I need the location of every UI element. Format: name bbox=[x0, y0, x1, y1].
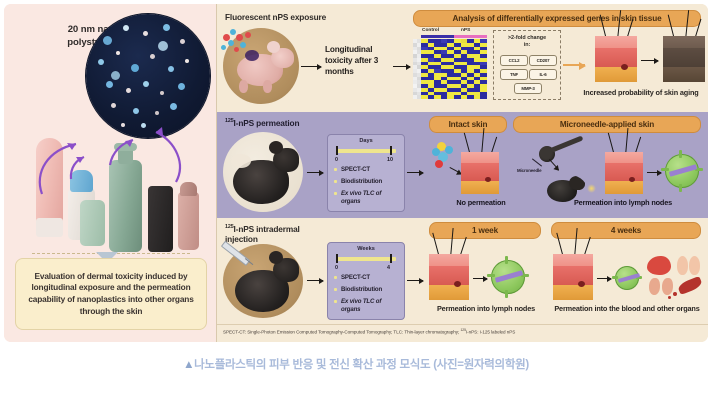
row2-skin-block-intact bbox=[461, 152, 499, 194]
gene-box-title-1: >2-fold change bbox=[494, 35, 560, 42]
heatmap-label-nps: nPS bbox=[461, 28, 470, 33]
row2-glow bbox=[587, 184, 596, 193]
row2-arrow-2 bbox=[407, 172, 423, 173]
microneedle-roller-handle bbox=[550, 135, 583, 152]
organ-kidney-right bbox=[662, 278, 673, 295]
row3-title-text: I-nPS intradermal injection bbox=[225, 224, 300, 244]
footnote-main: SPECT-CT: Single-Photon Emission Compute… bbox=[223, 330, 460, 335]
row2-title-superscript: 125 bbox=[225, 118, 234, 124]
row3-title: 125I-nPS intradermal injection bbox=[225, 224, 317, 244]
row3-arrow-1 bbox=[307, 280, 323, 281]
row1-arrow-2 bbox=[393, 66, 410, 67]
purple-arrow-from-green-bottle bbox=[106, 136, 140, 168]
scientific-figure: 20 nm nano polystyrene (nPS) bbox=[4, 4, 708, 342]
evaluation-callout-box: Evaluation of dermal toxicity induced by… bbox=[15, 258, 207, 330]
row2-pill-intact-skin: Intact skin bbox=[429, 116, 507, 133]
row3-skin-block-1week bbox=[429, 254, 469, 300]
tall-green-bottle bbox=[109, 160, 142, 252]
row2-caption-permeation: Permeation into lymph nodes bbox=[543, 198, 703, 207]
screenshot-root: 20 nm nano polystyrene (nPS) bbox=[0, 0, 712, 409]
nanoparticle-micrograph bbox=[86, 14, 210, 138]
skin-block-normal bbox=[595, 36, 637, 82]
row3-skin-block-4weeks bbox=[553, 254, 593, 300]
row1-arrow-3 bbox=[641, 60, 658, 61]
row3-timeline-unit: Weeks bbox=[328, 246, 404, 253]
row3-caption-lymph: Permeation into lymph nodes bbox=[423, 304, 549, 313]
row3-arrow-4 bbox=[597, 278, 611, 279]
row1-step-text: Longitudinal toxicity after 3 months bbox=[325, 44, 391, 77]
row3-title-superscript: 125 bbox=[225, 224, 234, 230]
row1-analysis-pill: Analysis of differentially expressed gen… bbox=[413, 10, 701, 27]
row3-timeline-start: 0 bbox=[335, 265, 338, 271]
row3-timeline-item-3: Ex vivo TLC of organs bbox=[341, 298, 399, 314]
gene-expression-heatmap: Control nPS bbox=[413, 28, 487, 100]
pink-tube-cap bbox=[36, 218, 63, 237]
row2-pill-microneedle-skin: Microneedle-applied skin bbox=[513, 116, 701, 133]
row2-arrow-3 bbox=[647, 172, 661, 173]
gene-pill-il6: IL-6 bbox=[529, 69, 557, 80]
row3-caption-blood-organs: Permeation into the blood and other orga… bbox=[547, 304, 707, 313]
row1-arrow-1 bbox=[301, 66, 321, 67]
row2-timeline-box: Days 0 10 SPECT-CT Biodistribution Ex vi… bbox=[327, 134, 405, 212]
row-intradermal-injection: 125I-nPS intradermal injection Weeks 0 bbox=[217, 218, 708, 324]
gene-box-title-2: in: bbox=[494, 42, 560, 49]
footnote-tail: I-nPS: I-125 labeled nPS bbox=[466, 330, 515, 335]
skin-block-aged bbox=[663, 36, 705, 82]
row3-timeline-item-1: SPECT-CT bbox=[341, 274, 370, 282]
row2-timeline-unit: Days bbox=[328, 138, 404, 145]
gene-pill-tnf: TNF bbox=[500, 69, 528, 80]
organ-spleen bbox=[677, 276, 703, 295]
row1-orange-arrow bbox=[563, 64, 585, 66]
abbreviation-footnote: SPECT-CT: Single-Photon Emission Compute… bbox=[223, 326, 705, 337]
row3-timeline-end: 4 bbox=[387, 265, 390, 271]
row2-timeline-item-2: Biodistribution bbox=[341, 178, 382, 186]
row2-timeline-item-1: SPECT-CT bbox=[341, 166, 370, 174]
gene-pill-ccl2: CCL2 bbox=[500, 55, 528, 66]
gene-pill-mmp3: MMP-3 bbox=[514, 83, 542, 94]
organ-liver bbox=[647, 256, 671, 275]
left-overview-panel: 20 nm nano polystyrene (nPS) bbox=[4, 4, 216, 342]
black-cosmetic-stick bbox=[148, 186, 173, 252]
row3-arrow-3 bbox=[473, 278, 487, 279]
lipstick-body bbox=[178, 192, 199, 250]
fluorescent-nps-cluster bbox=[221, 28, 255, 56]
row1-result-caption: Increased probability of skin aging bbox=[573, 88, 708, 97]
row2-caption-no-permeation: No permeation bbox=[431, 198, 531, 207]
row2-skin-block-microneedle bbox=[605, 152, 643, 194]
heatmap-label-control: Control bbox=[422, 28, 439, 33]
microneedle-label: Microneedle bbox=[517, 168, 542, 173]
row3-pill-1-week: 1 week bbox=[429, 222, 541, 239]
caption-triangle-icon: ▲ bbox=[183, 359, 194, 371]
row2-mouse-photo bbox=[223, 132, 303, 212]
row2-arrow-to-skin bbox=[450, 167, 462, 174]
purple-arrow-from-blue-bottle bbox=[66, 152, 92, 182]
row3-pill-4-weeks: 4 weeks bbox=[551, 222, 701, 239]
row2-timeline-start: 0 bbox=[335, 157, 338, 163]
row2-timeline-end: 10 bbox=[387, 157, 393, 163]
figure-caption: ▲나노플라스틱의 피부 반응 및 전신 확산 과정 모식도 (사진=원자력의학원… bbox=[0, 356, 712, 372]
row1-title: Fluorescent nPS exposure bbox=[225, 12, 326, 22]
row3-timeline-item-2: Biodistribution bbox=[341, 286, 382, 294]
organ-lung-right bbox=[689, 256, 700, 275]
row3-arrow-2 bbox=[407, 280, 423, 281]
row2-timeline-item-3: Ex vivo TLC of organs bbox=[341, 190, 399, 206]
radiolabeled-nps-glyph-left bbox=[431, 142, 457, 168]
row3-timeline-box: Weeks 0 4 SPECT-CT Biodistribution Ex vi… bbox=[327, 242, 405, 320]
evaluation-callout-text: Evaluation of dermal toxicity induced by… bbox=[16, 271, 206, 317]
caption-text: 나노플라스틱의 피부 반응 및 전신 확산 과정 모식도 (사진=원자력의학원) bbox=[194, 359, 529, 371]
row-fluorescent-exposure: Fluorescent nPS exposure bbox=[217, 4, 708, 112]
organ-lung-left bbox=[677, 256, 688, 275]
right-workflow-panel: Fluorescent nPS exposure bbox=[216, 4, 708, 342]
row2-title: 125I-nPS permeation bbox=[225, 118, 299, 128]
row2-arrow-1 bbox=[307, 172, 323, 173]
differential-gene-box: >2-fold change in: CCL2 CD207 TNF IL-6 M… bbox=[493, 30, 561, 100]
organ-kidney-left bbox=[649, 278, 660, 295]
gene-pill-cd207: CD207 bbox=[529, 55, 557, 66]
purple-arrow-from-lipstick bbox=[144, 124, 192, 186]
row2-arrow-roller-to-mouse bbox=[549, 159, 559, 170]
row2-title-text: I-nPS permeation bbox=[234, 118, 300, 128]
row-nps-permeation: 125I-nPS permeation Days 0 10 bbox=[217, 112, 708, 218]
small-green-bottle bbox=[80, 200, 105, 246]
